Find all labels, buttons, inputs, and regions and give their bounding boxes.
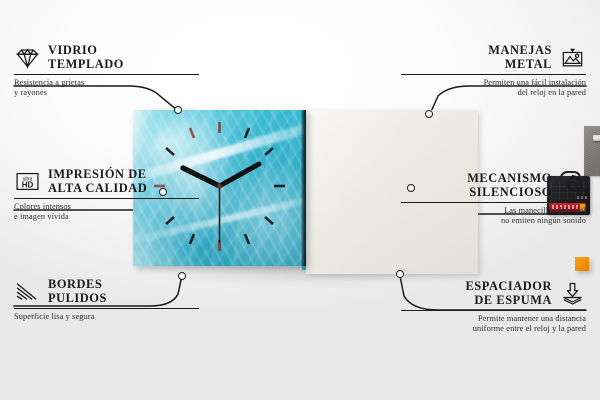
framed-picture-hanging-icon [559,45,586,70]
gear-icon [559,173,586,198]
feature-header: BORDES PULIDOS [14,278,199,307]
feature-title: VIDRIO TEMPLADO [48,44,124,71]
feature-header: MANEJAS METAL [401,44,586,73]
feature-title: IMPRESIÓN DE ALTA CALIDAD [48,168,147,195]
glass-right-edge [301,110,306,266]
feature-subtitle: Resistencia a grietas y rayones [14,78,199,98]
feature-silent-mechanism: MECANISMO SILENCIOSO Las manecillas del … [401,172,586,227]
feature-polished-edges: BORDES PULIDOS Superficie lisa y segura [14,278,199,322]
feature-divider [14,74,199,75]
arrow-down-onto-pad-icon [559,281,586,306]
feature-subtitle: Colores intensos e imagen vívida [14,202,199,222]
metal-hanger-plate [584,126,600,176]
feature-high-quality-print: ultra HD IMPRESIÓN DE ALTA CALIDAD Color… [14,168,199,223]
diagonal-lines-icon [14,279,41,304]
feature-subtitle: Las manecillas del reloj no emiten ningú… [401,206,586,226]
feature-header: MECANISMO SILENCIOSO [401,172,586,201]
hanger-slot [593,135,600,141]
feature-divider [401,310,586,311]
feature-title: MECANISMO SILENCIOSO [467,172,552,199]
feature-header: ultra HD IMPRESIÓN DE ALTA CALIDAD [14,168,199,197]
infographic-canvas: VIDRIO TEMPLADO Resistencia a grietas y … [0,0,600,400]
feature-foam-spacer: ESPACIADOR DE ESPUMA Permite mantener un… [401,280,586,335]
feature-subtitle: Permite mantener una distancia uniforme … [401,314,586,334]
metal-texture [584,126,600,176]
feature-subtitle: Superficie lisa y segura [14,312,199,322]
feature-subtitle: Permiten una fácil instalación del reloj… [401,78,586,98]
feature-tempered-glass: VIDRIO TEMPLADO Resistencia a grietas y … [14,44,199,99]
orange-foam-spacer [575,257,589,271]
marker-tempered-glass [174,106,182,114]
feature-divider [14,308,199,309]
feature-divider [14,198,199,199]
feature-title: MANEJAS METAL [488,44,552,71]
feature-metal-hooks: MANEJAS METAL Permiten una fácil instala… [401,44,586,99]
marker-foam-spacer [396,270,404,278]
feature-divider [401,74,586,75]
svg-text:HD: HD [22,181,34,190]
feature-header: VIDRIO TEMPLADO [14,44,199,73]
diamond-icon [14,45,41,70]
feature-title: ESPACIADOR DE ESPUMA [465,280,552,307]
marker-metal-hooks [425,110,433,118]
feature-title: BORDES PULIDOS [48,278,107,305]
ultra-hd-icon: ultra HD [14,169,41,194]
feature-divider [401,202,586,203]
feature-header: ESPACIADOR DE ESPUMA [401,280,586,309]
